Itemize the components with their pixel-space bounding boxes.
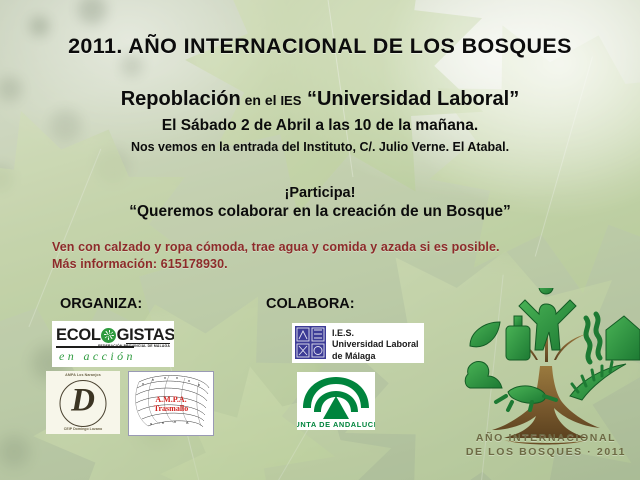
event-date: El Sábado 2 de Abril a las 10 de la maña… — [0, 117, 640, 135]
ecologistas-tagline: en acción — [59, 349, 136, 364]
ies-line2: Universidad Laboral — [332, 339, 419, 350]
emblem-line-1: AÑO INTERNACIONAL — [452, 432, 640, 444]
ecologistas-part1: ECOL — [56, 327, 101, 344]
poster-title: 2011. AÑO INTERNACIONAL DE LOS BOSQUES — [0, 34, 640, 59]
ies-line1: I.E.S. — [332, 328, 419, 339]
emblem-line-2: DE LOS BOSQUES · 2011 — [452, 446, 640, 458]
logo-ceip-domingo-lozano: AMPA Los Naranjos D CEIP Domingo Lozano — [46, 371, 120, 434]
logo-ampa-trasmallo: A.M.P.A. Trasmallo — [128, 371, 214, 436]
ampa-wordmark: A.M.P.A. Trasmallo — [154, 394, 189, 412]
ecologistas-part2: GISTAS — [117, 327, 174, 344]
ceip-caption-top: AMPA Los Naranjos — [46, 373, 120, 377]
call-to-action: ¡Participa! — [0, 185, 640, 201]
headline-line: Repoblación en el IES “Universidad Labor… — [0, 88, 640, 111]
svg-text:JUNTA DE ANDALUCIA: JUNTA DE ANDALUCIA — [297, 420, 375, 429]
logo-junta-de-andalucia: JUNTA DE ANDALUCIA — [297, 372, 375, 430]
headline-activity: Repoblación — [121, 88, 241, 110]
ies-crest-icon — [295, 326, 326, 359]
poster-canvas: 2011. AÑO INTERNACIONAL DE LOS BOSQUES R… — [0, 0, 640, 480]
ampa-line1: A.M.P.A. — [154, 394, 189, 403]
headline-ies: IES — [280, 93, 301, 108]
ampa-line2: Trasmallo — [154, 404, 189, 413]
slogan: “Queremos colaborar en la creación de un… — [0, 203, 640, 221]
colabora-heading: COLABORA: — [266, 296, 355, 312]
ceip-caption-bottom: CEIP Domingo Lozano — [46, 427, 120, 431]
flower-icon — [101, 328, 116, 343]
organiza-heading: ORGANIZA: — [60, 296, 142, 312]
logo-ecologistas-en-accion: ECOL GISTAS FEDERACIÓN PROVINCIAL DE MÁL… — [52, 321, 174, 367]
ecologistas-federation: FEDERACIÓN PROVINCIAL DE MÁLAGA — [98, 344, 170, 348]
headline-connector: en el — [241, 92, 281, 108]
notes-line-2: Más información: 615178930. — [52, 257, 228, 271]
logo-ies-universidad-laboral: I.E.S. Universidad Laboral de Málaga — [292, 323, 424, 363]
event-location: Nos vemos en la entrada del Instituto, C… — [0, 140, 640, 154]
iyf-2011-emblem: AÑO INTERNACIONAL DE LOS BOSQUES · 2011 — [452, 288, 640, 480]
monogram-letter: D — [71, 384, 95, 417]
junta-emblem-icon: JUNTA DE ANDALUCIA — [297, 372, 375, 430]
ies-wordmark: I.E.S. Universidad Laboral de Málaga — [332, 328, 419, 362]
headline-school: “Universidad Laboral” — [301, 88, 519, 110]
ies-line3: de Málaga — [332, 351, 419, 362]
notes-line-1: Ven con calzado y ropa cómoda, trae agua… — [52, 240, 500, 254]
